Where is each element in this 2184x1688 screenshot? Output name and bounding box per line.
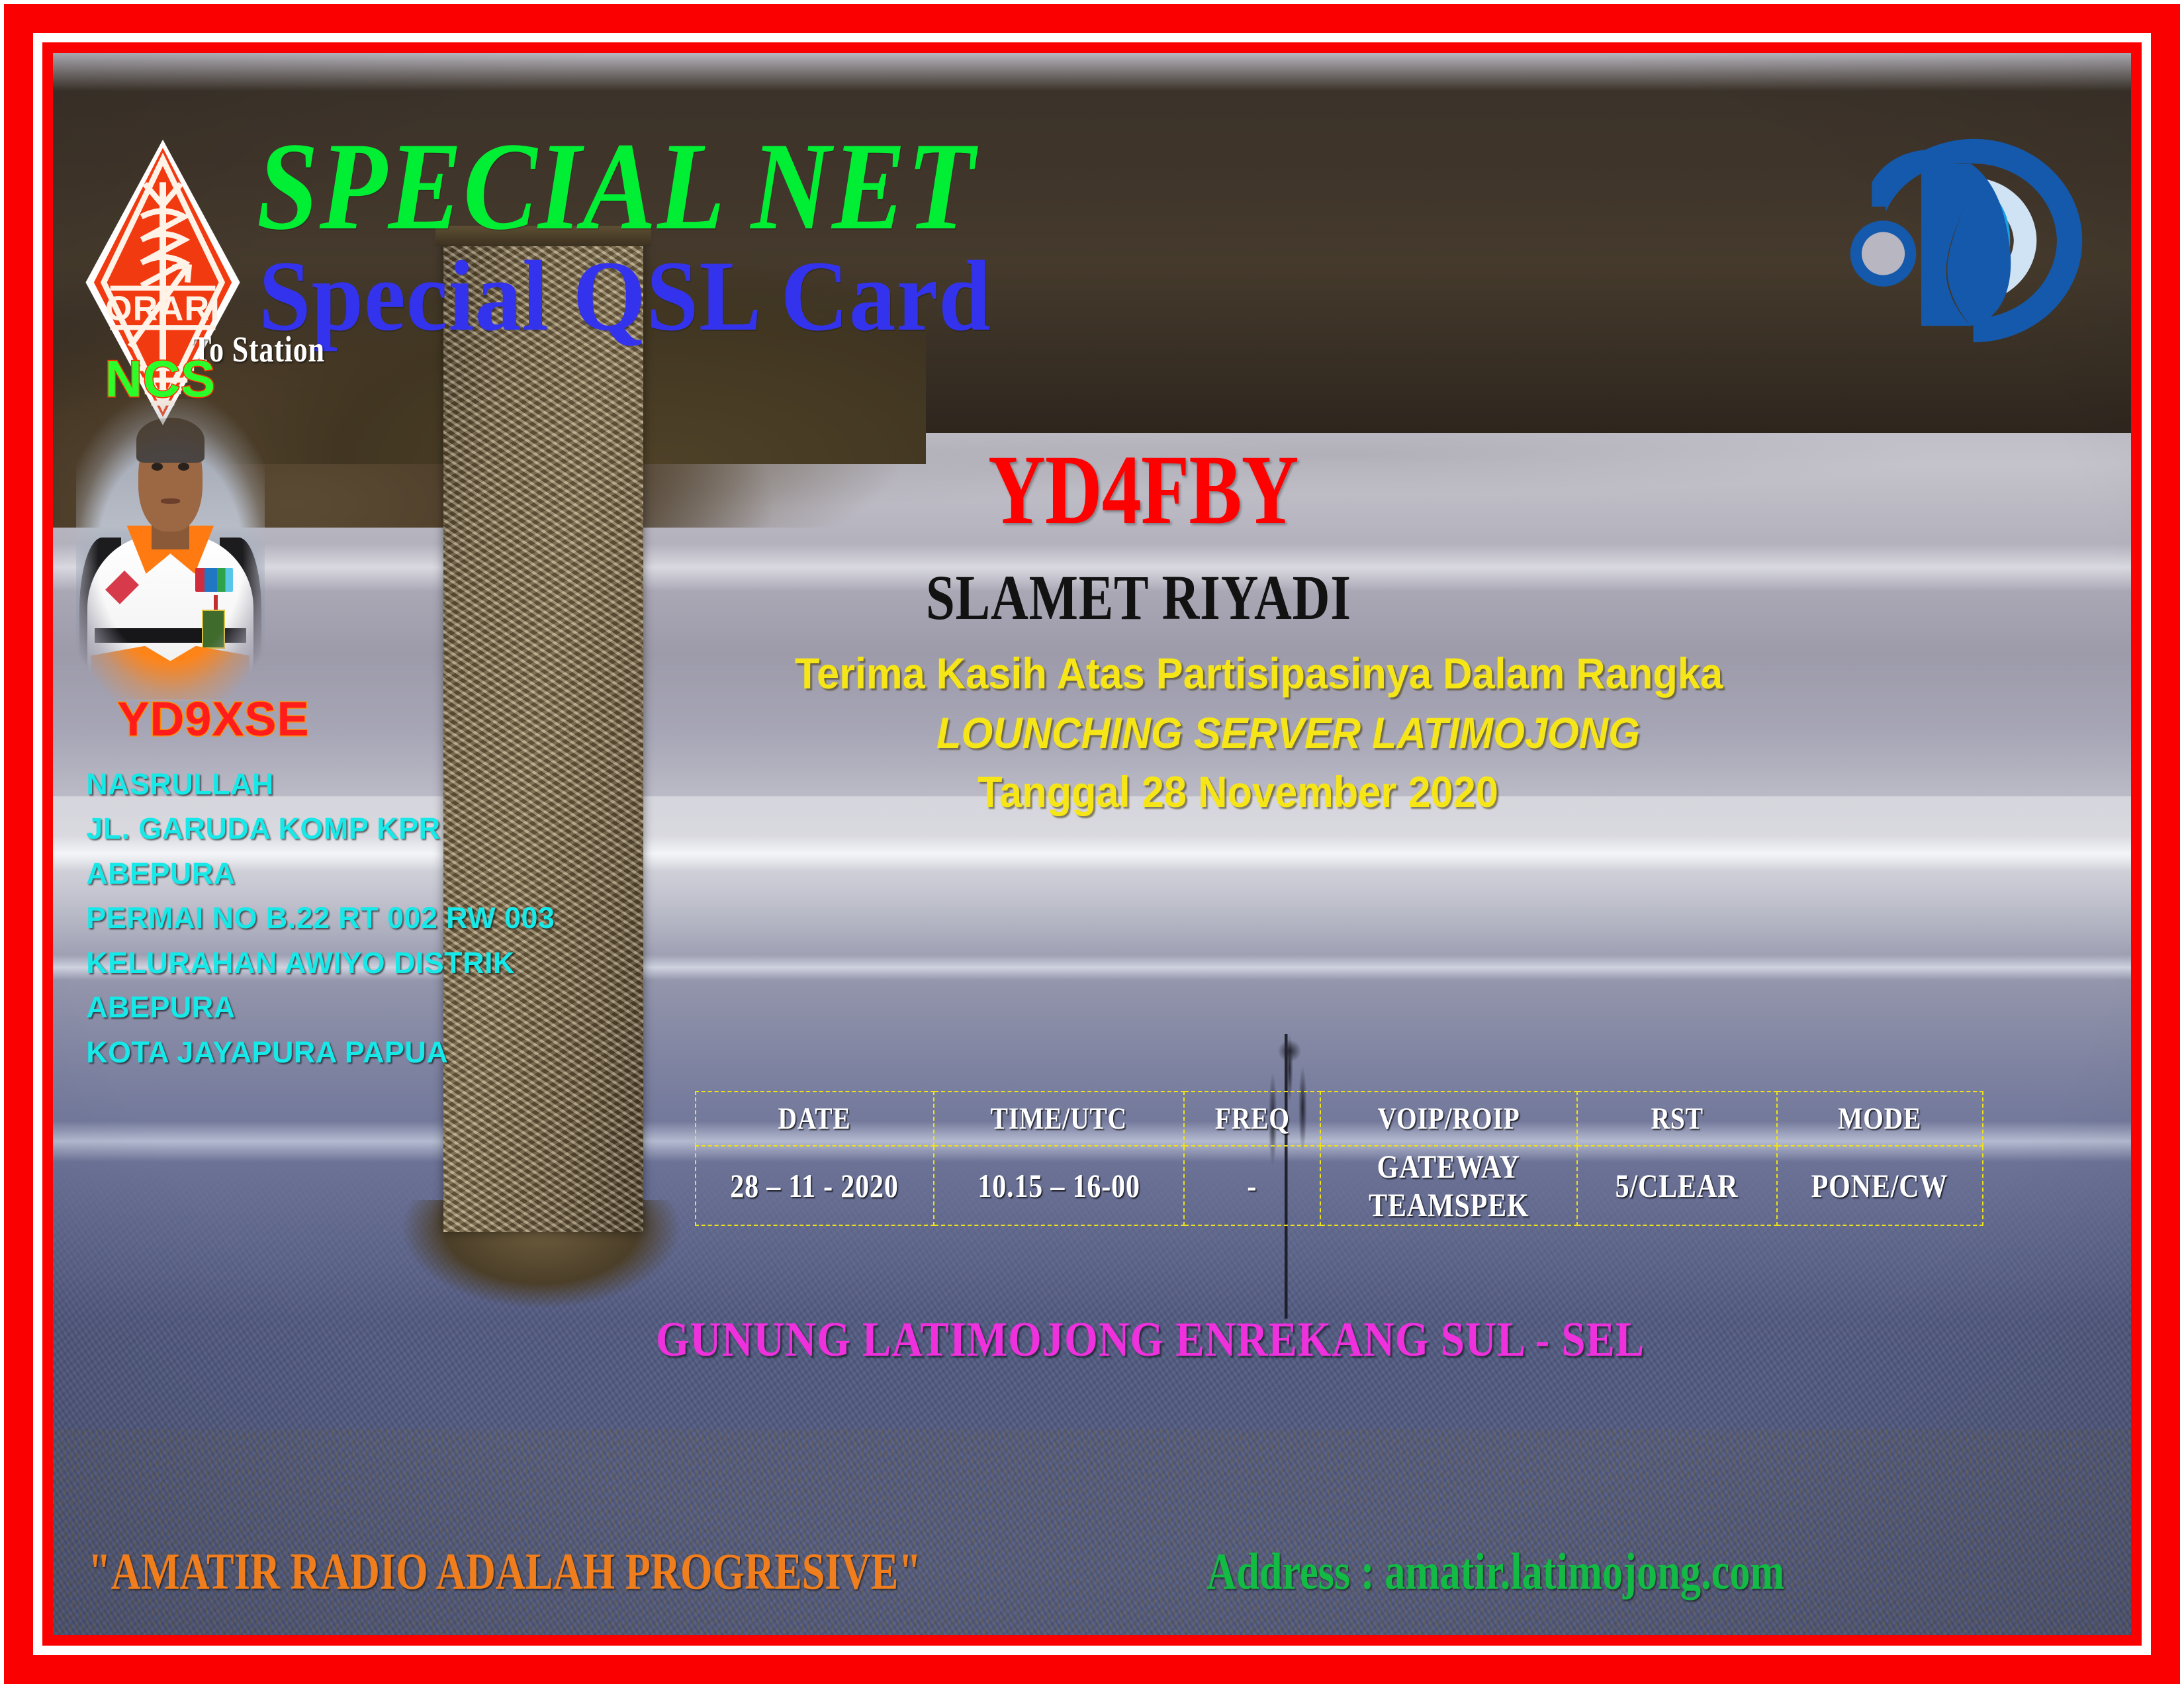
column-header-rst: RST xyxy=(1577,1092,1777,1146)
table-row: 28 – 11 - 2020 10.15 – 16-00 - GATEWAY T… xyxy=(696,1146,1983,1225)
page-subtitle-special-qsl-card: Special QSL Card xyxy=(259,238,991,353)
table-header-row: DATE TIME/UTC FREQ VOIP/ROIP RST MODE xyxy=(696,1092,1983,1146)
svg-text:ORARI: ORARI xyxy=(105,290,220,328)
column-header-voip-roip: VOIP/ROIP xyxy=(1320,1092,1577,1146)
station-callsign: YD4FBY xyxy=(988,433,1298,547)
address-line: ABEPURA xyxy=(86,851,555,896)
address-block: NASRULLAH JL. GARUDA KOMP KPR ABEPURA PE… xyxy=(86,762,555,1075)
column-header-freq: FREQ xyxy=(1184,1092,1320,1146)
cell-mode: PONE/CW xyxy=(1777,1146,1983,1225)
thanks-line-1: Terima Kasih Atas Partisipasinya Dalam R… xyxy=(795,648,1723,698)
cell-rst: 5/CLEAR xyxy=(1577,1146,1777,1225)
thanks-line-3: Tanggal 28 November 2020 xyxy=(978,767,1498,817)
column-header-time: TIME/UTC xyxy=(934,1092,1185,1146)
station-operator-name: SLAMET RIYADI xyxy=(926,561,1351,634)
address-line: PERMAI NO B.22 RT 002 RW 003 xyxy=(86,896,555,941)
cell-time: 10.15 – 16-00 xyxy=(934,1146,1185,1225)
location-line: GUNUNG LATIMOJONG ENREKANG SUL - SEL xyxy=(656,1312,1645,1368)
footer-address: Address : amatir.latimojong.com xyxy=(1206,1542,1785,1601)
page-title-special-net: SPECIAL NET xyxy=(257,115,976,259)
thanks-line-2: LOUNCHING SERVER LATIMOJONG xyxy=(936,708,1640,758)
background-photo: ORARI xyxy=(53,53,2131,1635)
cell-date: 28 – 11 - 2020 xyxy=(696,1146,933,1225)
column-header-date: DATE xyxy=(696,1092,933,1146)
address-line: NASRULLAH xyxy=(86,762,555,807)
address-line: JL. GARUDA KOMP KPR xyxy=(86,806,555,851)
cell-voip-roip: GATEWAY TEAMSPEK xyxy=(1320,1146,1577,1225)
address-line: KOTA JAYAPURA PAPUA xyxy=(86,1030,555,1075)
headphone-soundwave-logo xyxy=(1846,78,2100,402)
footer-motto: "AMATIR RADIO ADALAH PROGRESIVE" xyxy=(88,1542,921,1601)
cell-freq: - xyxy=(1184,1146,1320,1225)
qsl-card: ORARI xyxy=(0,0,2184,1688)
ncs-callsign: YD9XSE xyxy=(117,692,309,747)
column-header-mode: MODE xyxy=(1777,1092,1983,1146)
operator-portrait-photo xyxy=(76,399,265,700)
qso-table: DATE TIME/UTC FREQ VOIP/ROIP RST MODE 28… xyxy=(695,1091,1983,1226)
address-line: KELURAHAN AWIYO DISTRIK xyxy=(86,941,555,986)
address-line: ABEPURA xyxy=(86,985,555,1030)
